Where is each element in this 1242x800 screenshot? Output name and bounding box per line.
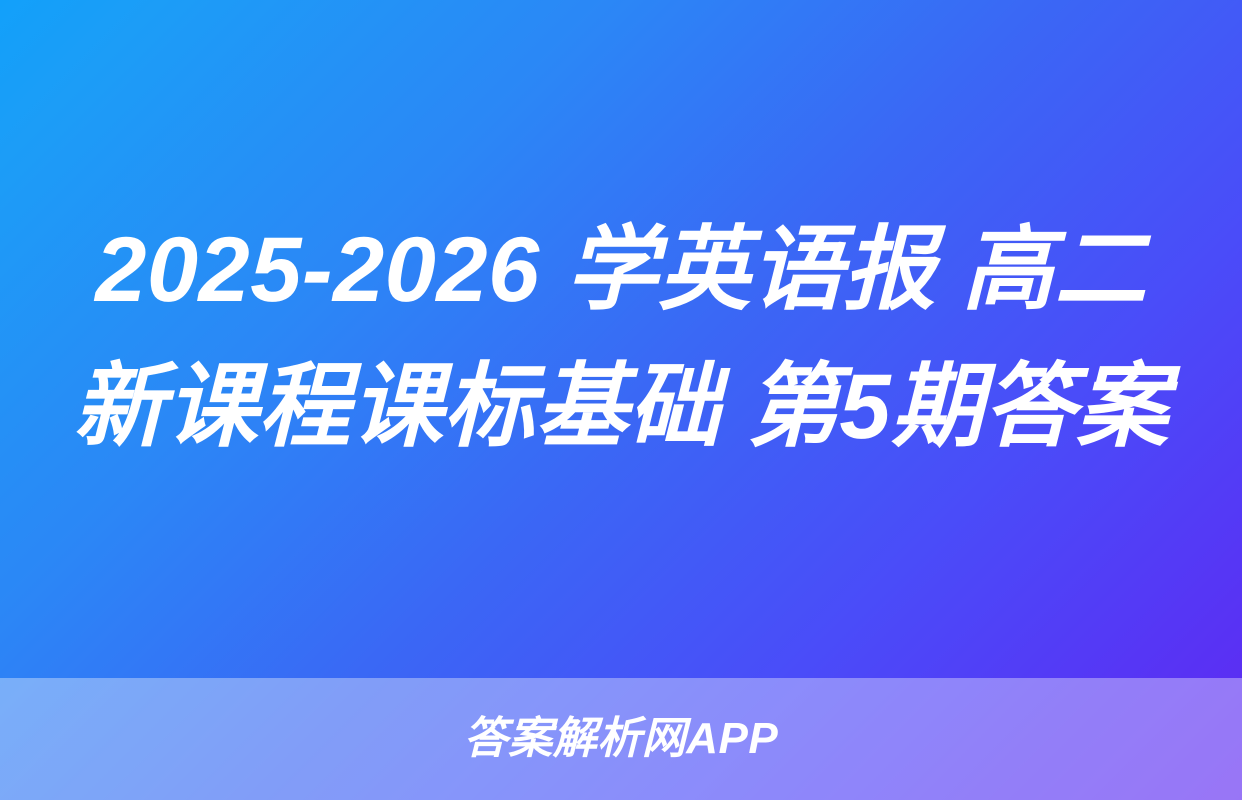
brand-band: 答案解析网APP <box>0 678 1242 800</box>
brand-label: 答案解析网APP <box>464 717 778 761</box>
headline-area: 2025-2026 学英语报 高二 新课程课标基础 第5期答案 <box>0 0 1242 678</box>
page-title: 2025-2026 学英语报 高二 新课程课标基础 第5期答案 <box>48 202 1194 476</box>
poster-canvas: 2025-2026 学英语报 高二 新课程课标基础 第5期答案 答案解析网APP <box>0 0 1242 800</box>
